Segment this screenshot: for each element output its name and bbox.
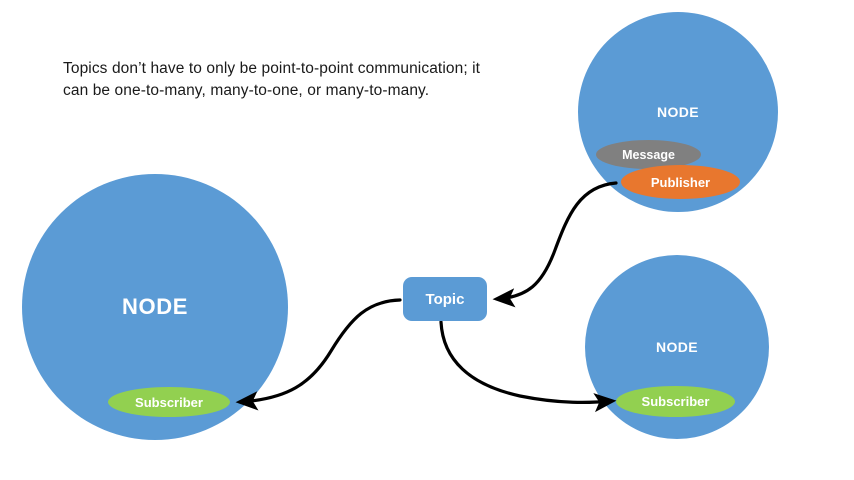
node-label-bottom-right: NODE: [656, 339, 698, 355]
subscriber-pill-left[interactable]: Subscriber: [108, 387, 230, 417]
node-label-left: NODE: [122, 294, 188, 320]
subscriber-pill-right[interactable]: Subscriber: [616, 386, 735, 417]
diagram-slide: Topics don’t have to only be point-to-po…: [0, 0, 854, 480]
arrow-publisher-to-topic: [497, 183, 616, 299]
publisher-pill[interactable]: Publisher: [621, 165, 740, 199]
caption-text: Topics don’t have to only be point-to-po…: [63, 58, 483, 103]
topic-box[interactable]: Topic: [403, 277, 487, 321]
node-label-top-right: NODE: [657, 104, 699, 120]
